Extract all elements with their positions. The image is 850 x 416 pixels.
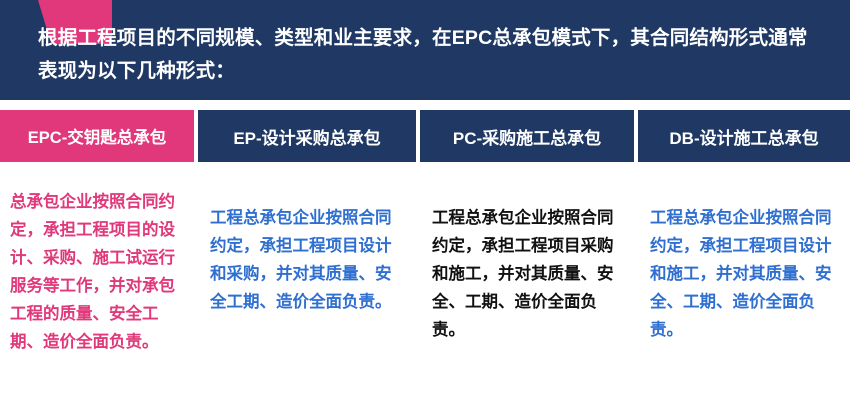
column-epc-body: 总承包企业按照合同约定，承担工程项目的设计、采购、施工试运行服务等工作，并对承包… xyxy=(0,162,194,410)
column-epc-title: EPC-交钥匙总承包 xyxy=(0,110,194,162)
column-ep: EP-设计采购总承包 工程总承包企业按照合同约定，承担工程项目设计和采购，并对其… xyxy=(198,110,416,410)
column-ep-title: EP-设计采购总承包 xyxy=(198,110,416,162)
contract-structure-columns: EPC-交钥匙总承包 总承包企业按照合同约定，承担工程项目的设计、采购、施工试运… xyxy=(0,110,850,410)
column-pc: PC-采购施工总承包 工程总承包企业按照合同约定，承担工程项目采购和施工，并对其… xyxy=(420,110,634,410)
page-title: 根据工程项目的不同规模、类型和业主要求，在EPC总承包模式下，其合同结构形式通常… xyxy=(38,22,818,88)
column-pc-body: 工程总承包企业按照合同约定，承担工程项目采购和施工，并对其质量、安全、工期、造价… xyxy=(420,162,634,410)
column-pc-title: PC-采购施工总承包 xyxy=(420,110,634,162)
column-epc: EPC-交钥匙总承包 总承包企业按照合同约定，承担工程项目的设计、采购、施工试运… xyxy=(0,110,194,410)
column-db-title: DB-设计施工总承包 xyxy=(638,110,850,162)
header-banner: 根据工程项目的不同规模、类型和业主要求，在EPC总承包模式下，其合同结构形式通常… xyxy=(0,0,850,100)
column-db-body: 工程总承包企业按照合同约定，承担工程项目设计和施工，并对其质量、安全、工期、造价… xyxy=(638,162,850,410)
column-ep-body: 工程总承包企业按照合同约定，承担工程项目设计和采购，并对其质量、安全工期、造价全… xyxy=(198,162,416,410)
column-db: DB-设计施工总承包 工程总承包企业按照合同约定，承担工程项目设计和施工，并对其… xyxy=(638,110,850,410)
